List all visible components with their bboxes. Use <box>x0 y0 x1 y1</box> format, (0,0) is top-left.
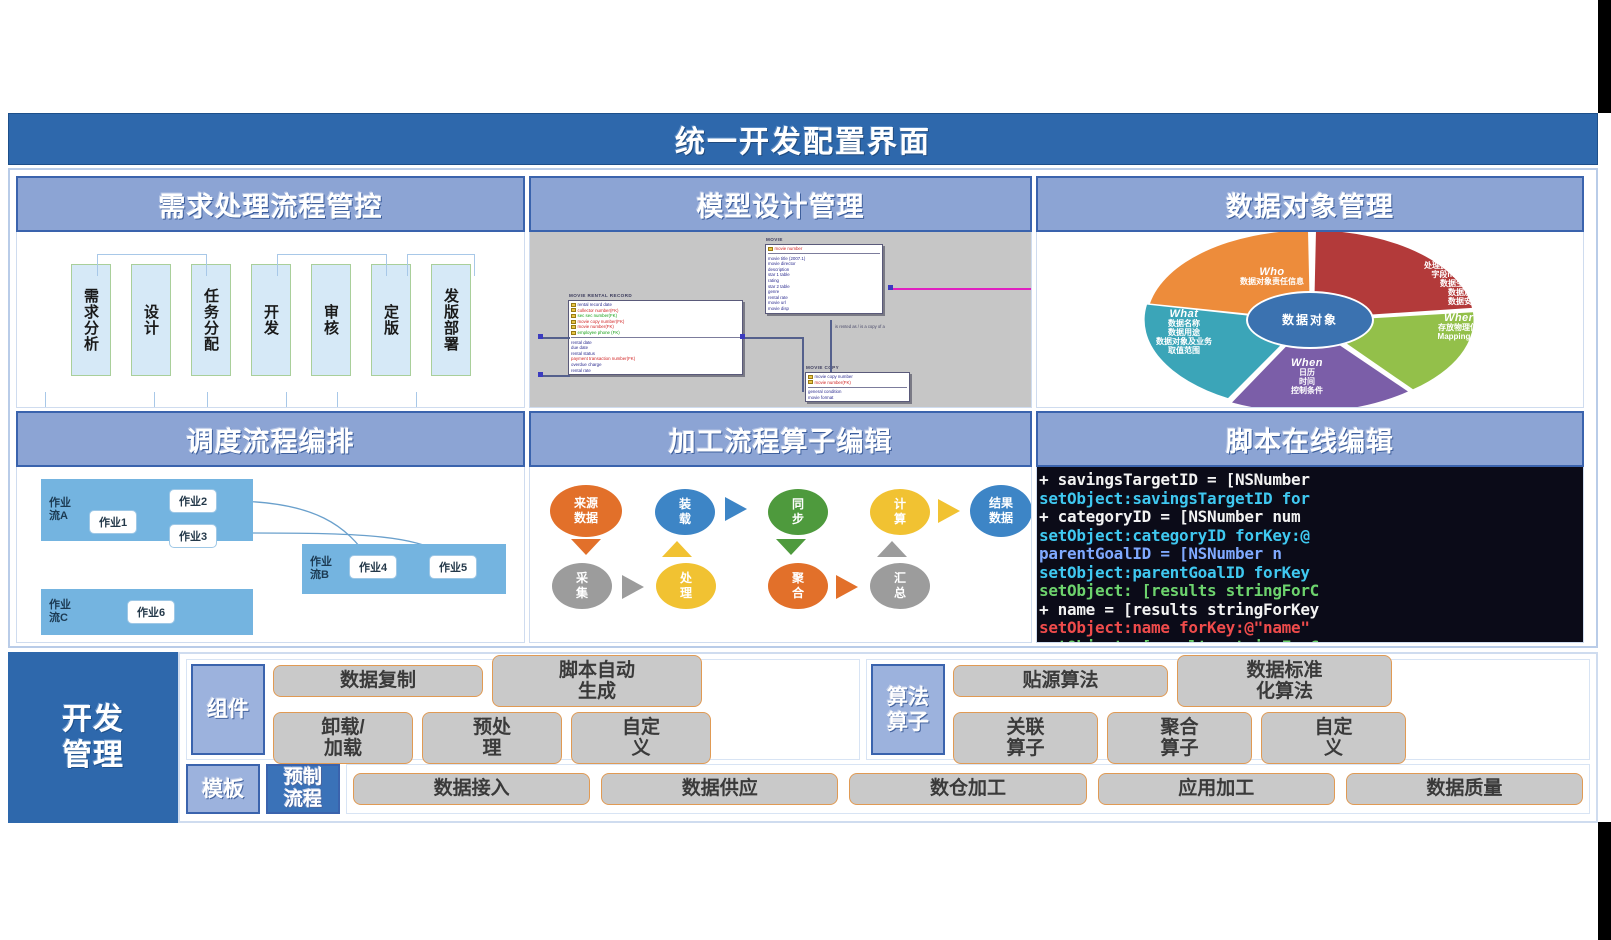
pie-label-line: 字段mapping信息 <box>1389 270 1539 279</box>
operator-node-collect[interactable]: 采集 <box>552 563 612 609</box>
swimlane-label-b: 作业流B <box>310 556 332 582</box>
pie-center-label: 数据对象 <box>1246 291 1374 349</box>
job-node[interactable]: 作业4 <box>349 555 397 579</box>
arrow-up-icon <box>877 541 907 557</box>
er-entity-title: MOVIE RENTAL RECORD <box>569 293 632 299</box>
req-step-box[interactable]: 发版部署 <box>431 264 471 376</box>
panel-header-object: 数据对象管理 <box>1036 176 1584 232</box>
operator-node-summary[interactable]: 汇总 <box>870 563 930 609</box>
er-entity-title: MOVIE COPY <box>806 365 839 371</box>
pie-label-key: Where <box>1392 314 1532 323</box>
arrow-down-icon <box>571 539 601 555</box>
operator-node-source[interactable]: 来源数据 <box>550 485 622 537</box>
panel-body-processing: 来源数据 采集 装载 处理 同步 聚合 计算 <box>529 467 1032 643</box>
category-template[interactable]: 模板 <box>186 764 260 814</box>
panel-title-model: 模型设计管理 <box>697 185 865 224</box>
code-line: + savingsTargetID = [NSNumber <box>1039 471 1583 490</box>
chip-unload-load[interactable]: 卸载/加载 <box>273 712 413 764</box>
code-line: setObject:categoryID forKey:@ <box>1039 527 1583 546</box>
panel-header-schedule: 调度流程编排 <box>16 411 525 467</box>
flow-connector-bot-2 <box>207 392 287 408</box>
req-step-box[interactable]: 需求分析 <box>71 264 111 376</box>
req-step-box[interactable]: 定版 <box>371 264 411 376</box>
pie-label-line: 数据名称 <box>1109 319 1259 328</box>
code-editor[interactable]: + savingsTargetID = [NSNumber setObject:… <box>1037 467 1583 642</box>
arrow-right-icon <box>938 499 960 523</box>
operator-node-load[interactable]: 装载 <box>655 489 715 535</box>
pie-label-how: How 处理执行的逻辑及算法 字段mapping信息 数据生命周期 数据加工 数… <box>1389 252 1539 306</box>
chip-aggregate-operator[interactable]: 聚合算子 <box>1107 712 1252 764</box>
er-field: movie format <box>808 395 907 401</box>
component-chip-row-1: 数据复制 脚本自动生成 <box>273 655 855 707</box>
dev-management-content: 组件 数据复制 脚本自动生成 卸载/加载 预处理 自定义 <box>178 652 1598 823</box>
panel-schedule-orchestration[interactable]: 调度流程编排 作业流A <box>16 411 525 643</box>
req-step-box[interactable]: 开发 <box>251 264 291 376</box>
panel-title-schedule: 调度流程编排 <box>187 420 355 459</box>
chip-custom-component[interactable]: 自定义 <box>571 712 711 764</box>
pie-label-who: Who 数据对象责任信息 <box>1187 268 1357 286</box>
arrow-up-icon <box>662 541 692 557</box>
pie-label-key: Who <box>1187 268 1357 277</box>
arrow-right-icon <box>836 575 858 599</box>
panel-title-processing: 加工流程算子编辑 <box>669 420 893 459</box>
er-field: movie copy number(FK) <box>578 319 625 324</box>
component-chip-group: 数据复制 脚本自动生成 卸载/加载 预处理 自定义 <box>273 655 855 764</box>
pie-label-line: 存放物理位置 <box>1392 323 1532 332</box>
er-field: sec sec number(FK) <box>578 313 618 318</box>
dev-management-title: 开发管理 <box>62 702 124 774</box>
algorithm-chip-row-1: 贴源算法 数据标准化算法 <box>953 655 1585 707</box>
panel-model-design[interactable]: 模型设计管理 MOVIE movie number movie title (2… <box>529 176 1032 408</box>
panel-body-model: MOVIE movie number movie title (2007.1) … <box>529 232 1032 408</box>
pie-label-key: What <box>1109 310 1259 319</box>
req-step-label: 需求分析 <box>80 288 101 352</box>
job-node[interactable]: 作业3 <box>169 524 217 548</box>
er-field: rental record date <box>578 302 612 307</box>
er-field: movie copy number <box>815 374 853 379</box>
arrow-down-icon <box>776 539 806 555</box>
pie-label-line: 数据用途 <box>1109 328 1259 337</box>
code-line: parentGoalID = [NSNumber n <box>1039 545 1583 564</box>
pie-label-line: 处理执行的逻辑及算法 <box>1389 261 1539 270</box>
req-step-label: 审核 <box>320 304 341 336</box>
panel-title-requirement: 需求处理流程管控 <box>159 185 383 224</box>
req-step-box[interactable]: 审核 <box>311 264 351 376</box>
panel-header-model: 模型设计管理 <box>529 176 1032 232</box>
er-link <box>830 320 832 372</box>
er-link <box>540 337 570 339</box>
er-field: rental rate <box>571 368 740 374</box>
chip-data-supply[interactable]: 数据供应 <box>601 773 838 805</box>
code-line: + name = [results stringForKey <box>1039 601 1583 620</box>
job-node[interactable]: 作业1 <box>89 510 137 534</box>
flow-connector-top-2 <box>277 254 387 276</box>
er-field: movie number(FK) <box>815 380 851 385</box>
category-preset-flow[interactable]: 预制流程 <box>266 764 340 814</box>
er-link <box>743 337 803 339</box>
operator-node-compute[interactable]: 计算 <box>870 489 930 535</box>
swimlane-label-a: 作业流A <box>49 497 71 523</box>
pie-label-line: 数据安全 <box>1389 297 1539 306</box>
pie-label-line: 日历 <box>1242 368 1372 377</box>
chip-source-algorithm[interactable]: 贴源算法 <box>953 665 1168 697</box>
job-node[interactable]: 作业2 <box>169 489 217 513</box>
er-field: employee phone (FK) <box>578 330 620 335</box>
req-step-box[interactable]: 任务分配 <box>191 264 231 376</box>
panel-body-requirement: 需求分析 设计 任务分配 开发 审核 定版 发版部署 <box>16 232 525 408</box>
development-management-band: 开发管理 组件 数据复制 脚本自动生成 <box>8 652 1598 823</box>
er-entity-title: MOVIE <box>766 237 783 243</box>
req-step-box[interactable]: 设计 <box>131 264 171 376</box>
panel-header-processing: 加工流程算子编辑 <box>529 411 1032 467</box>
swimlane-label-c: 作业流C <box>49 599 71 625</box>
dev-row-components-algorithms: 组件 数据复制 脚本自动生成 卸载/加载 预处理 自定义 <box>186 659 1590 760</box>
chip-script-autogen[interactable]: 脚本自动生成 <box>492 655 702 707</box>
er-diagram: MOVIE movie number movie title (2007.1) … <box>530 232 1031 407</box>
category-label-components: 组件 <box>207 697 249 722</box>
chip-data-quality[interactable]: 数据质量 <box>1346 773 1583 805</box>
pie-label-line: 数据对象及业务 <box>1109 337 1259 346</box>
code-line: setObject:savingsTargetID for <box>1039 490 1583 509</box>
swimlane-a[interactable]: 作业流A <box>41 479 253 541</box>
pie-label-key: How <box>1389 252 1539 261</box>
operator-node-sync[interactable]: 同步 <box>768 489 828 535</box>
panel-body-object: Who 数据对象责任信息 What 数据名称 数据用途 数据对象及业务 取值范围 <box>1036 232 1584 408</box>
category-algorithms[interactable]: 算法算子 <box>871 664 945 755</box>
chip-data-ingest[interactable]: 数据接入 <box>353 773 590 805</box>
panel-requirement-process[interactable]: 需求处理流程管控 需求分析 设计 任务分配 <box>16 176 525 408</box>
pie-label-where: Where 存放物理位置 Mapping关系 <box>1392 314 1532 341</box>
pie-label-line: 数据加工 <box>1389 288 1539 297</box>
er-relation-label: is rented as / is a copy of a <box>835 324 885 329</box>
component-chip-row-2: 卸载/加载 预处理 自定义 <box>273 712 855 764</box>
category-label-algorithms: 算法算子 <box>887 685 929 735</box>
panels-grid: 需求处理流程管控 需求分析 设计 任务分配 <box>8 168 1598 648</box>
panel-script-editor[interactable]: 脚本在线编辑 + savingsTargetID = [NSNumber set… <box>1036 411 1584 643</box>
pie-label-line: 取值范围 <box>1109 346 1259 355</box>
requirement-flow-diagram: 需求分析 设计 任务分配 开发 审核 定版 发版部署 <box>17 232 524 407</box>
er-entity-movie[interactable]: MOVIE movie number movie title (2007.1) … <box>765 244 883 314</box>
flow-connector-top-3 <box>407 254 475 276</box>
er-field: movie number <box>775 246 803 251</box>
chip-join-operator[interactable]: 关联算子 <box>953 712 1098 764</box>
er-link <box>802 337 804 392</box>
code-line: + categoryID = [NSNumber num <box>1039 508 1583 527</box>
panel-processing-operators[interactable]: 加工流程算子编辑 来源数据 采集 装载 处理 同步 <box>529 411 1032 643</box>
pie-label-line: 数据对象责任信息 <box>1187 277 1357 286</box>
pie-label-key: When <box>1242 359 1372 368</box>
page-title-bar: 统一开发配置界面 <box>8 113 1598 165</box>
er-field: movie disp <box>768 306 880 312</box>
er-connector-dot <box>740 334 745 339</box>
req-step-label: 定版 <box>380 304 401 336</box>
five-w-pie-chart: Who 数据对象责任信息 What 数据名称 数据用途 数据对象及业务 取值范围 <box>1037 232 1583 407</box>
panels-row-top: 需求处理流程管控 需求分析 设计 任务分配 <box>16 176 1590 408</box>
operator-flow-diagram: 来源数据 采集 装载 处理 同步 聚合 计算 <box>530 467 1031 642</box>
chip-custom-operator[interactable]: 自定义 <box>1261 712 1406 764</box>
req-step-label: 任务分配 <box>200 288 221 352</box>
dev-management-sidebar[interactable]: 开发管理 <box>8 652 178 823</box>
panel-title-object: 数据对象管理 <box>1226 185 1394 224</box>
chip-data-replication[interactable]: 数据复制 <box>273 665 483 697</box>
dev-cell-algorithms: 算法算子 贴源算法 数据标准化算法 关联算子 聚合算子 自定义 <box>866 659 1590 760</box>
er-connector-dot <box>538 334 543 339</box>
algorithm-chip-group: 贴源算法 数据标准化算法 关联算子 聚合算子 自定义 <box>953 655 1585 764</box>
er-link-magenta <box>890 288 1032 290</box>
arrow-right-icon <box>725 497 747 521</box>
category-label-preset-flow: 预制流程 <box>284 767 322 811</box>
er-connector-dot <box>888 285 893 290</box>
req-step-label: 设计 <box>140 304 161 336</box>
operator-node-aggregate[interactable]: 聚合 <box>768 563 828 609</box>
pie-label-line: Mapping关系 <box>1392 332 1532 341</box>
er-field: movie number(FK) <box>578 324 614 329</box>
dev-row-template: 模板 预制流程 数据接入 数据供应 数仓加工 应用加工 数据质量 <box>186 764 1590 814</box>
operator-node-result[interactable]: 结果数据 <box>970 485 1032 537</box>
code-line: setObject: [results stringForC <box>1039 582 1583 601</box>
req-step-label: 开发 <box>260 304 281 336</box>
panel-body-script: + savingsTargetID = [NSNumber setObject:… <box>1036 467 1584 643</box>
er-entity-movie-copy[interactable]: MOVIE COPY movie copy number movie numbe… <box>805 372 910 402</box>
panel-header-script: 脚本在线编辑 <box>1036 411 1584 467</box>
dev-cell-components: 组件 数据复制 脚本自动生成 卸载/加载 预处理 自定义 <box>186 659 860 760</box>
chip-standardization-algorithm[interactable]: 数据标准化算法 <box>1177 655 1392 707</box>
arrow-right-icon <box>622 575 644 599</box>
job-node[interactable]: 作业5 <box>429 555 477 579</box>
chip-preprocess[interactable]: 预处理 <box>422 712 562 764</box>
er-link <box>540 375 570 377</box>
pie-label-what: What 数据名称 数据用途 数据对象及业务 取值范围 <box>1109 310 1259 355</box>
panel-data-object[interactable]: 数据对象管理 <box>1036 176 1584 408</box>
unified-dev-config-slide: 统一开发配置界面 需求处理流程管控 <box>8 113 1598 823</box>
pie-label-line: 控制条件 <box>1242 386 1372 395</box>
flow-connector-bot-3 <box>337 392 417 408</box>
flow-connector-bot-1 <box>45 392 155 408</box>
panels-row-bottom: 调度流程编排 作业流A <box>16 411 1590 643</box>
er-field: collector number(FK) <box>578 308 619 313</box>
schedule-flow-diagram: 作业流A 作业1 作业2 作业3 作业流B 作业4 作业5 作业流C <box>17 467 524 642</box>
page-title: 统一开发配置界面 <box>675 117 931 161</box>
er-connector-dot <box>538 372 543 377</box>
panel-header-requirement: 需求处理流程管控 <box>16 176 525 232</box>
code-line: setObject:name forKey:@"name" <box>1039 619 1583 638</box>
code-line: setObject:parentGoalID forKey <box>1039 564 1583 583</box>
chip-warehouse-processing[interactable]: 数仓加工 <box>849 773 1086 805</box>
slide-root: 统一开发配置界面 需求处理流程管控 <box>0 0 1611 940</box>
req-step-label: 发版部署 <box>440 288 461 352</box>
panel-body-schedule: 作业流A 作业1 作业2 作业3 作业流B 作业4 作业5 作业流C <box>16 467 525 643</box>
er-entity-rental-record[interactable]: MOVIE RENTAL RECORD rental record date c… <box>568 300 743 375</box>
right-edge-strip-bottom <box>1598 822 1611 940</box>
category-components[interactable]: 组件 <box>191 664 265 755</box>
code-line: setObject: [results stringForC <box>1039 638 1583 643</box>
chip-application-processing[interactable]: 应用加工 <box>1098 773 1335 805</box>
job-node[interactable]: 作业6 <box>127 600 175 624</box>
panel-title-script: 脚本在线编辑 <box>1226 420 1394 459</box>
category-label-template: 模板 <box>202 777 244 802</box>
pie-label-line: 时间 <box>1242 377 1372 386</box>
pie-label-line: 数据生命周期 <box>1389 279 1539 288</box>
algorithm-chip-row-2: 关联算子 聚合算子 自定义 <box>953 712 1585 764</box>
right-edge-strip-top <box>1598 0 1611 113</box>
pie-label-when: When 日历 时间 控制条件 <box>1242 359 1372 395</box>
template-chip-group: 数据接入 数据供应 数仓加工 应用加工 数据质量 <box>346 764 1590 814</box>
operator-node-process[interactable]: 处理 <box>656 563 716 609</box>
flow-connector-top-1 <box>97 254 207 276</box>
